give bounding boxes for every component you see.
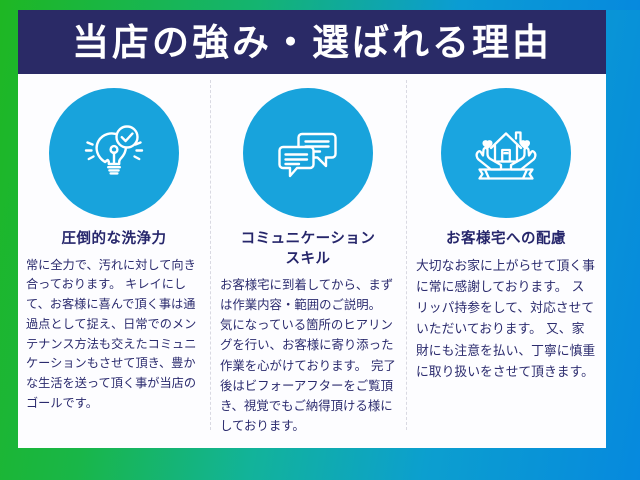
feature-body-text: お客様宅に到着してから、まずは作業内容・範囲のご説明。 気になっている箇所のヒア… bbox=[220, 275, 396, 436]
header-banner: 当店の強み・選ばれる理由 bbox=[18, 10, 606, 74]
feature-heading-customer-care: お客様宅への配慮 bbox=[446, 230, 566, 250]
promo-banner-frame: 当店の強み・選ばれる理由 bbox=[0, 0, 640, 480]
feature-body-customer-care: 大切なお家に上がらせて頂く事に常に感謝しております。 スリッパ持参をして、対応さ… bbox=[412, 256, 600, 383]
lightbulb-check-icon bbox=[49, 88, 179, 218]
feature-heading-communication: コミュニケーション スキル bbox=[241, 230, 376, 269]
feature-body-cleaning-power: 常に全力で、汚れに対して向き合っております。 キレイにして、お客様に喜んで頂く事… bbox=[22, 256, 206, 414]
feature-body-text: 常に全力で、汚れに対して向き合っております。 キレイにして、お客様に喜んで頂く事… bbox=[26, 256, 202, 414]
feature-column-cleaning-power: 圧倒的な洗浄力 常に全力で、汚れに対して向き合っております。 キレイにして、お客… bbox=[18, 74, 210, 448]
feature-heading-cleaning-power: 圧倒的な洗浄力 bbox=[62, 230, 167, 250]
feature-column-customer-care: お客様宅への配慮 大切なお家に上がらせて頂く事に常に感謝しております。 スリッパ… bbox=[406, 74, 606, 448]
features-card: 圧倒的な洗浄力 常に全力で、汚れに対して向き合っております。 キレイにして、お客… bbox=[18, 74, 606, 448]
feature-body-communication: お客様宅に到着してから、まずは作業内容・範囲のご説明。 気になっている箇所のヒア… bbox=[216, 275, 400, 436]
house-in-hands-icon bbox=[441, 88, 571, 218]
feature-body-text: 大切なお家に上がらせて頂く事に常に感謝しております。 スリッパ持参をして、対応さ… bbox=[416, 256, 596, 383]
speech-bubbles-icon bbox=[243, 88, 373, 218]
feature-column-communication: コミュニケーション スキル お客様宅に到着してから、まずは作業内容・範囲のご説明… bbox=[210, 74, 406, 448]
page-title: 当店の強み・選ばれる理由 bbox=[72, 24, 552, 61]
